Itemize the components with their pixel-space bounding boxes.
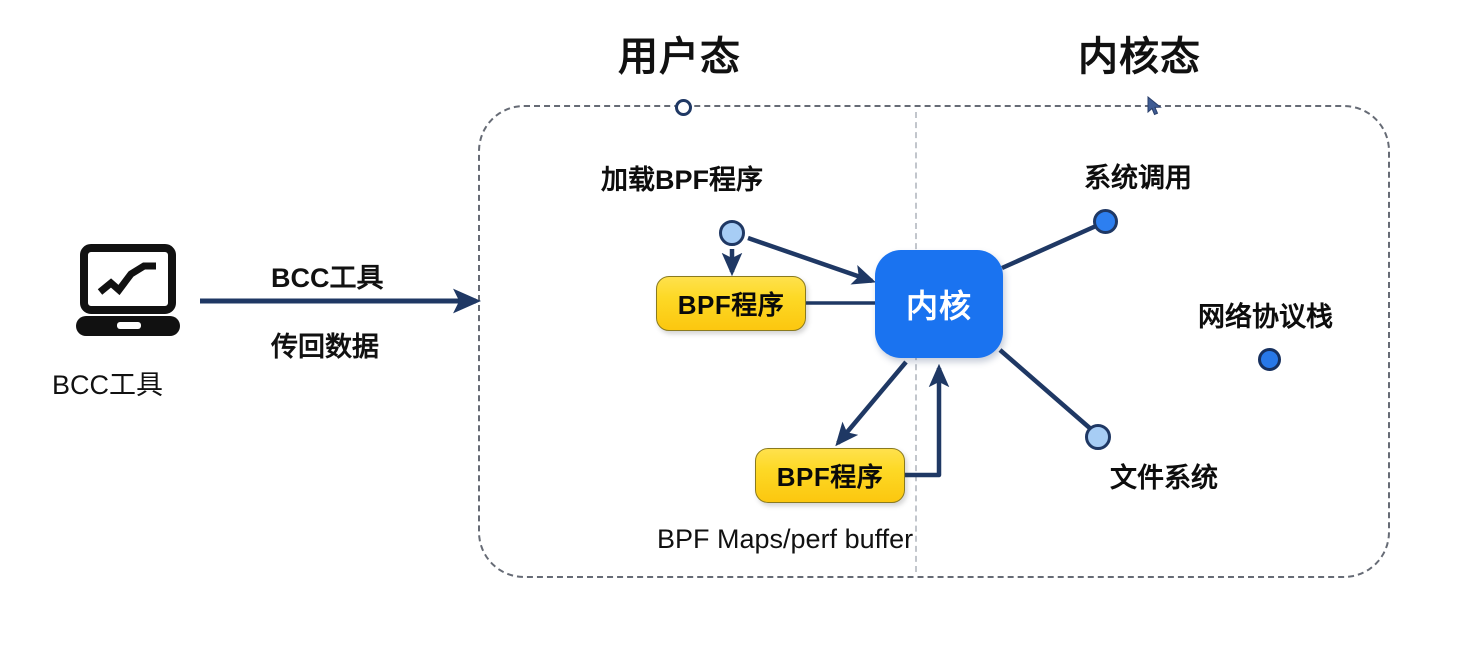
syscall-label: 系统调用: [1084, 156, 1192, 195]
syscall-node[interactable]: [1093, 209, 1118, 234]
laptop-chart-icon: [74, 244, 184, 349]
file-system-node[interactable]: [1085, 424, 1111, 450]
load-bpf-label: 加载BPF程序: [601, 158, 763, 197]
resize-handle[interactable]: [675, 99, 692, 116]
pointer-cursor-icon: [1145, 96, 1165, 123]
main-arrow-label-top: BCC工具: [271, 256, 384, 295]
header-kernel-space: 内核态: [1078, 24, 1201, 82]
diagram-canvas: 用户态 内核态 BCC工具 BCC工具 传回数据: [0, 0, 1466, 657]
kernel-label: 内核: [906, 281, 972, 327]
load-bpf-node[interactable]: [719, 220, 745, 246]
network-stack-label: 网络协议栈: [1198, 295, 1333, 334]
kernel-box[interactable]: 内核: [875, 250, 1003, 358]
bpf-program-top-label: BPF程序: [678, 285, 785, 322]
bpf-program-top-box[interactable]: BPF程序: [656, 276, 806, 331]
main-arrow-label-bottom: 传回数据: [271, 325, 379, 364]
network-stack-node[interactable]: [1258, 348, 1281, 371]
bpf-program-bottom-box[interactable]: BPF程序: [755, 448, 905, 503]
file-system-label: 文件系统: [1110, 456, 1218, 495]
bcc-tool-label: BCC工具: [52, 363, 163, 402]
bpf-maps-caption: BPF Maps/perf buffer: [657, 524, 913, 555]
bpf-program-bottom-label: BPF程序: [777, 457, 884, 494]
header-user-space: 用户态: [618, 24, 741, 82]
